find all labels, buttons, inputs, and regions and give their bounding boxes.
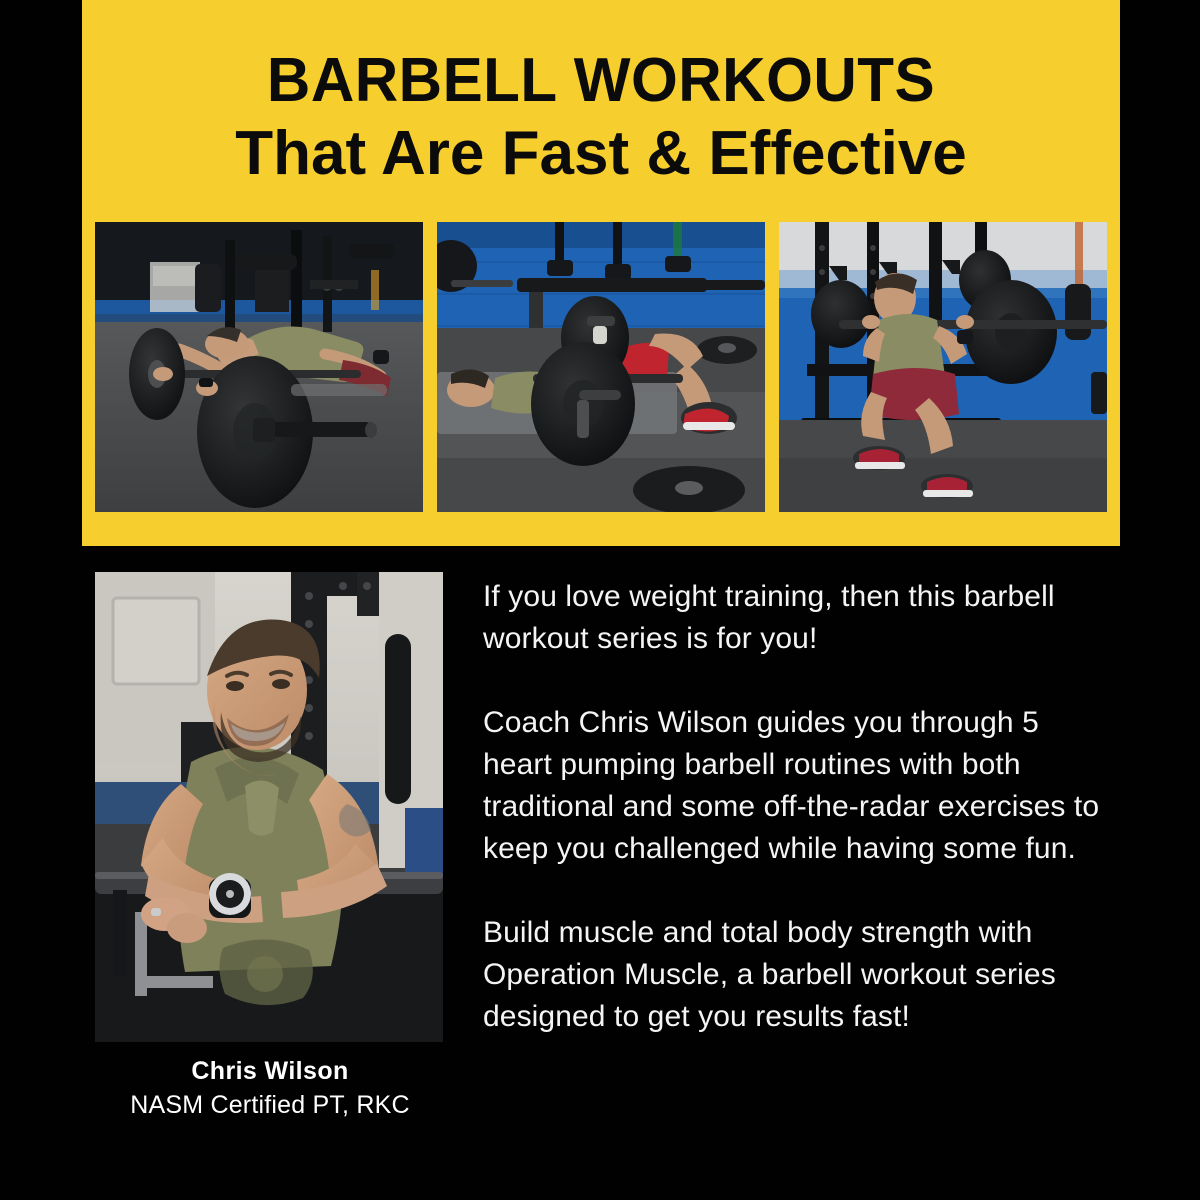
barbell-rollout-photo [95, 222, 423, 512]
portrait-caption: Chris Wilson NASM Certified PT, RKC [60, 1055, 480, 1123]
body-copy: If you love weight training, then this b… [483, 576, 1108, 1038]
barbell-hip-thrust-photo [437, 222, 765, 512]
coach-credentials: NASM Certified PT, RKC [60, 1087, 480, 1123]
coach-name: Chris Wilson [60, 1055, 480, 1087]
title-line-1: BARBELL WORKOUTS [98, 48, 1105, 114]
barbell-back-squat-photo [779, 222, 1107, 512]
chris-wilson-portrait [95, 572, 443, 1042]
body-paragraph-1: If you love weight training, then this b… [483, 576, 1108, 660]
promo-poster: BARBELL WORKOUTS That Are Fast & Effecti… [0, 0, 1200, 1200]
photo-strip [95, 222, 1107, 512]
page-title: BARBELL WORKOUTS That Are Fast & Effecti… [82, 48, 1120, 190]
title-line-2: That Are Fast & Effective [82, 118, 1120, 190]
body-paragraph-3: Build muscle and total body strength wit… [483, 912, 1108, 1038]
hero-panel: BARBELL WORKOUTS That Are Fast & Effecti… [82, 0, 1120, 546]
body-paragraph-2: Coach Chris Wilson guides you through 5 … [483, 702, 1108, 870]
